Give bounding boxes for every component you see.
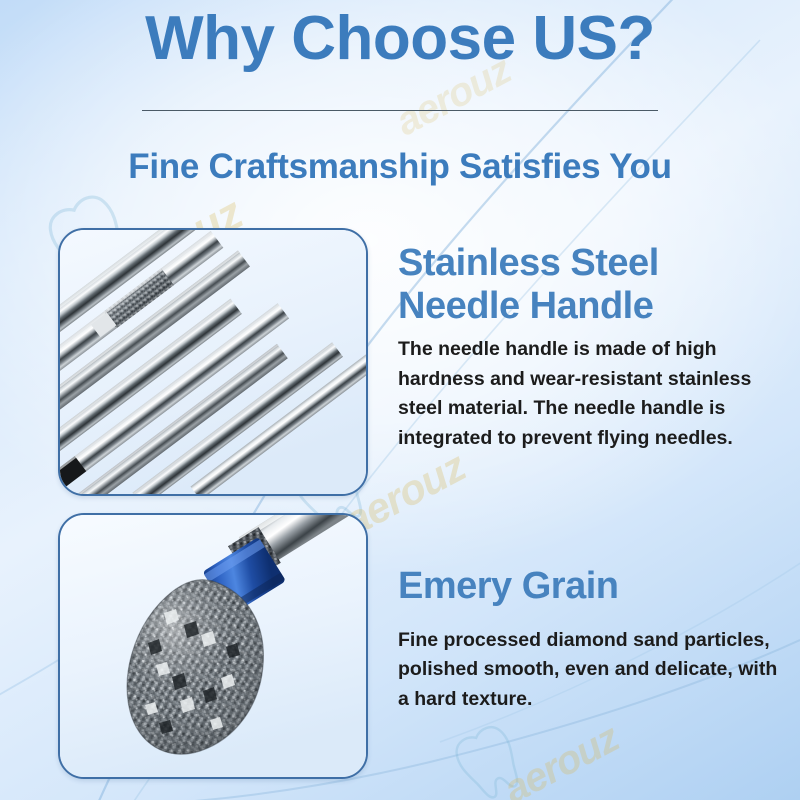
feature-1-text-column: Stainless Steel Needle Handle The needle…	[398, 228, 790, 454]
feature-2-text-column: Emery Grain Fine processed diamond sand …	[398, 513, 790, 714]
feature-2-body: Fine processed diamond sand particles, p…	[398, 608, 790, 715]
page-title: Why Choose US?	[0, 6, 800, 73]
feature-2-heading: Emery Grain	[398, 513, 790, 608]
feature-row-emery-grain: Emery Grain Fine processed diamond sand …	[0, 513, 800, 779]
emery-grain-photo	[58, 513, 368, 779]
feature-row-stainless-steel-needle-handle: Stainless Steel Needle Handle The needle…	[0, 228, 800, 500]
page-subtitle: Fine Craftsmanship Satisfies You	[0, 147, 800, 187]
header-divider	[142, 110, 658, 111]
feature-1-body: The needle handle is made of high hardne…	[398, 327, 790, 454]
infographic-page: aerouz aerouz aerouz aerouz Why Choose U…	[0, 0, 800, 800]
stainless-steel-needle-handle-photo	[58, 228, 368, 496]
feature-1-heading: Stainless Steel Needle Handle	[398, 228, 790, 327]
